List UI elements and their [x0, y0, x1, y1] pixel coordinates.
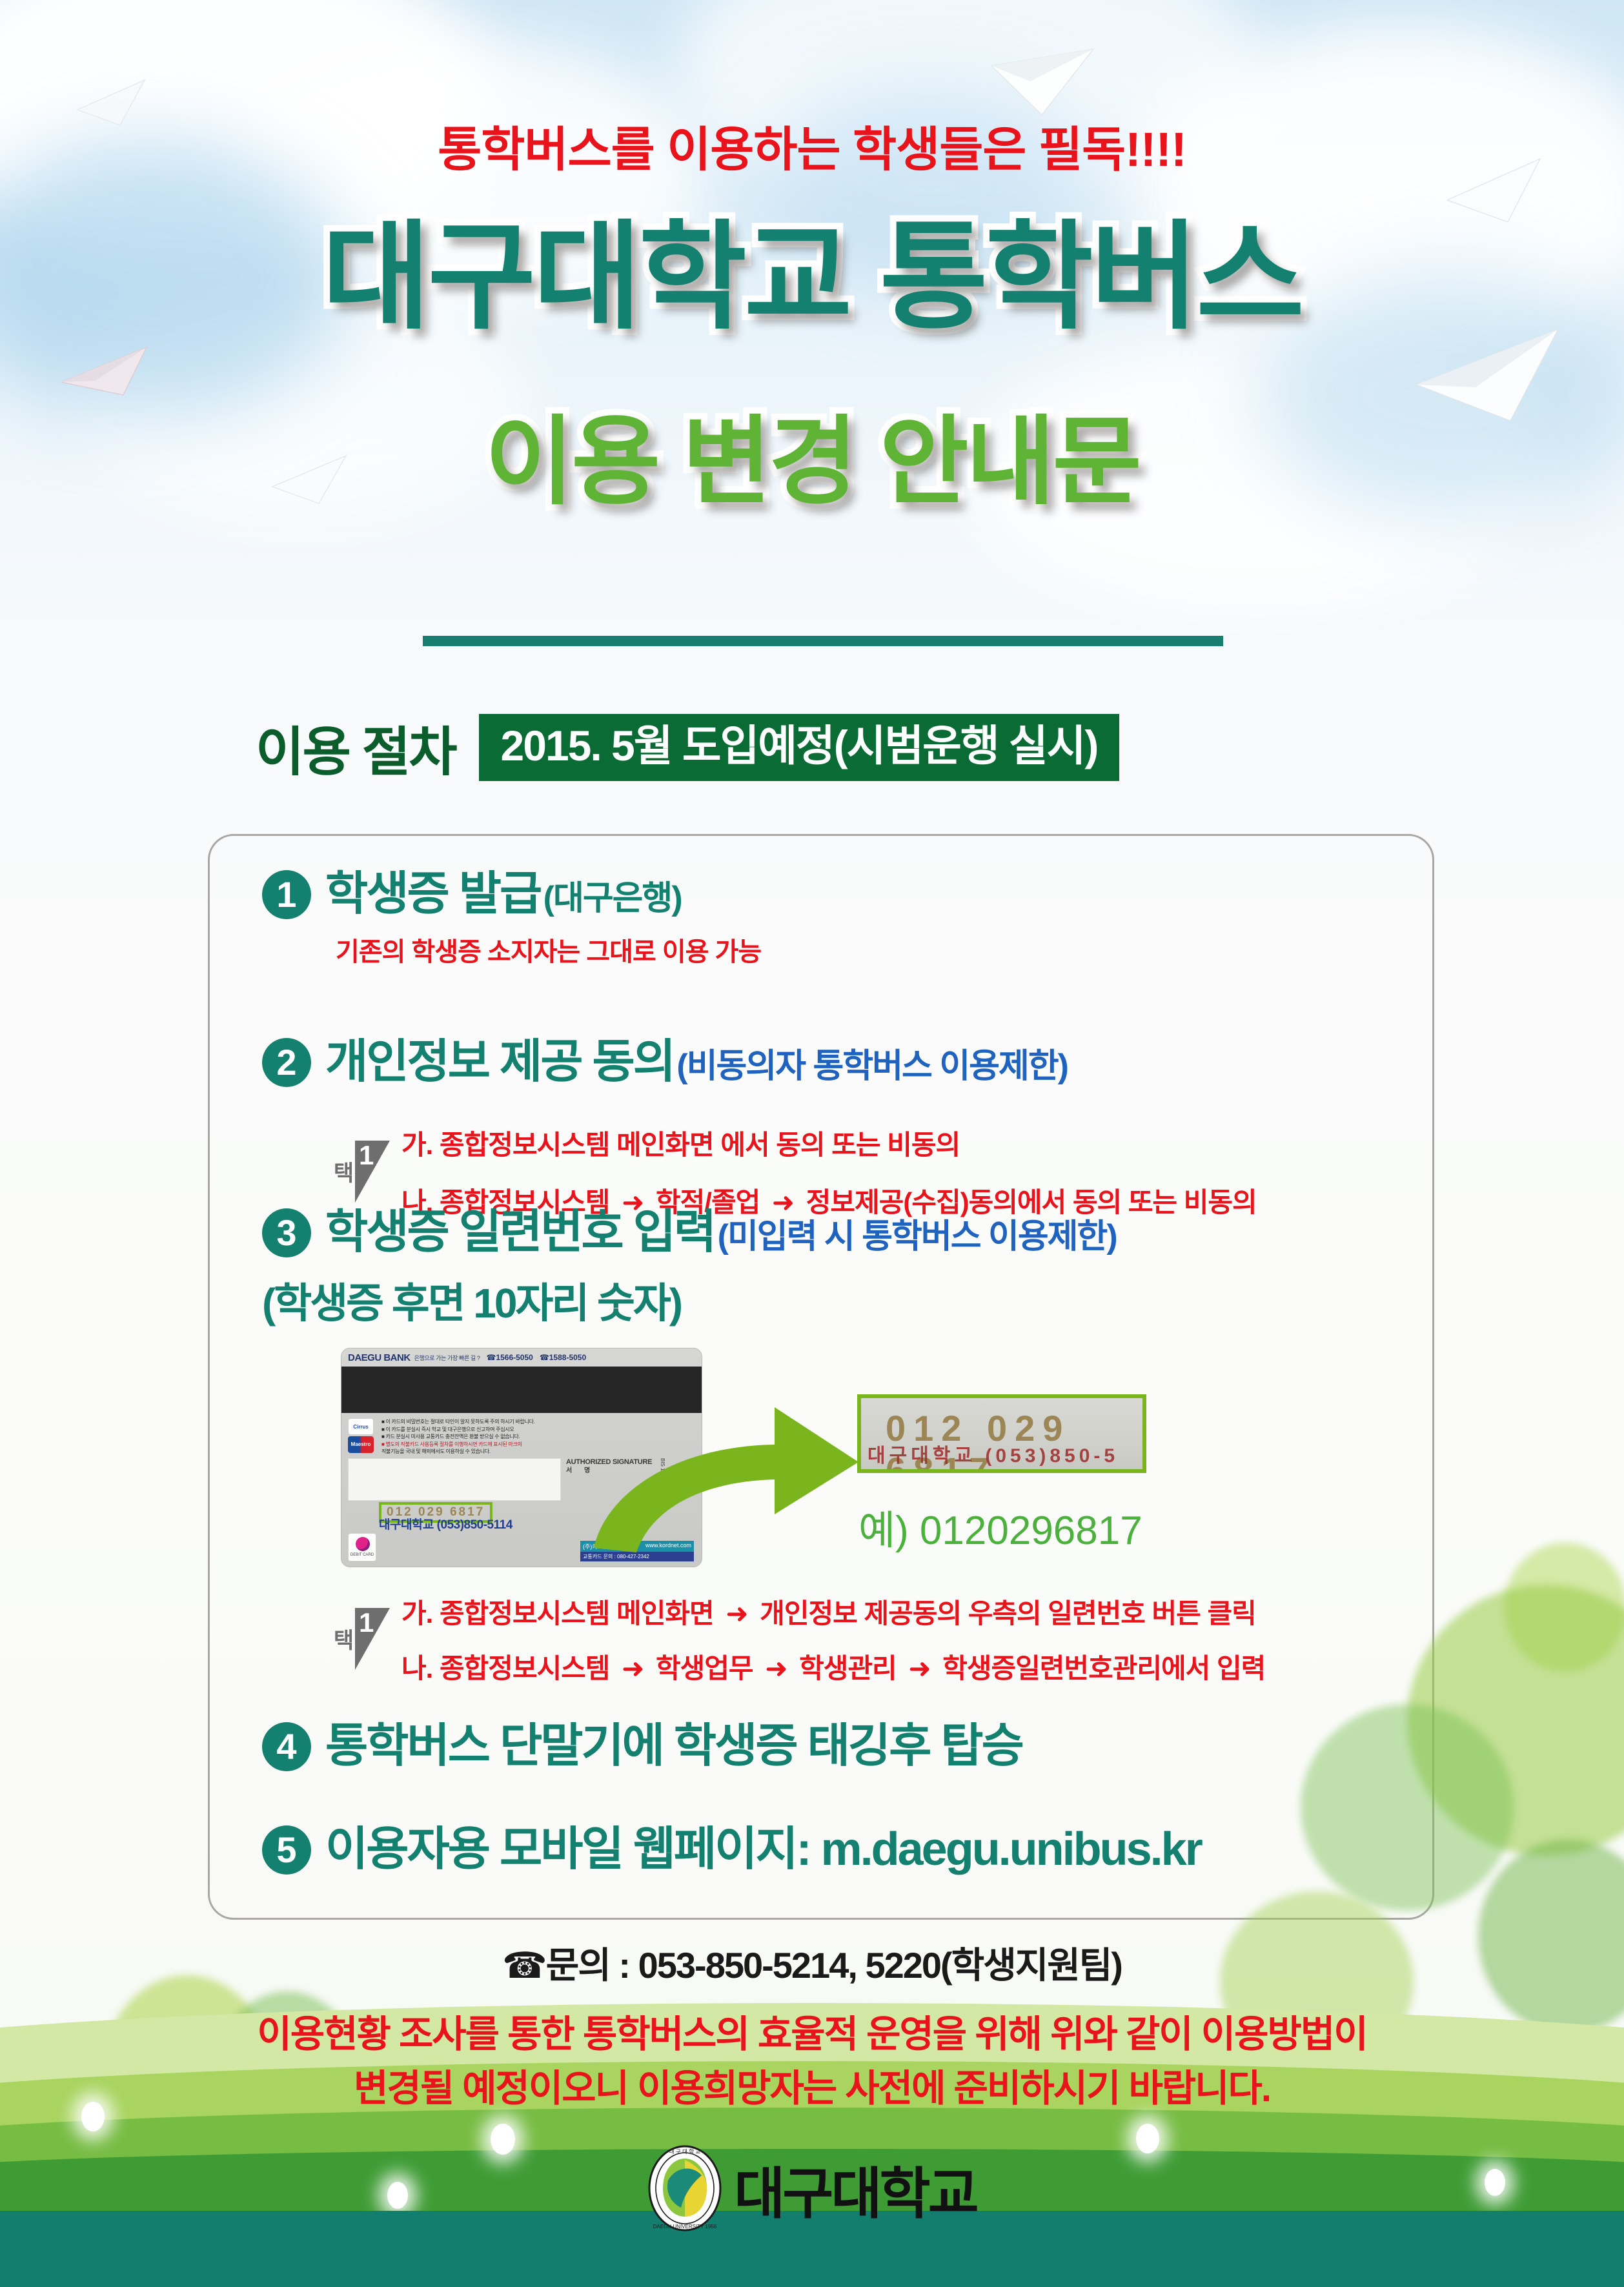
choice-part: 종합정보시스템 메인화면 — [440, 1598, 714, 1629]
paper-plane-icon — [988, 43, 1097, 120]
step-2-paren: (비동의자 통학버스 이용제한) — [676, 1048, 1068, 1085]
schedule-badge: 2015. 5월 도입예정(시범운행 실시) — [479, 714, 1120, 781]
arrow-icon: ➜ — [903, 1653, 935, 1683]
taek-label: 택 — [330, 1161, 352, 1182]
step-2-choices: 가. 종합정보시스템 메인화면 에서 동의 또는 비동의 나. 종합정보시스템 … — [401, 1123, 1257, 1220]
step-3: 3 학생증 일련번호 입력 (미입력 시 통학버스 이용제한) — [262, 1208, 1117, 1257]
choice-line: 가. 종합정보시스템 메인화면 에서 동의 또는 비동의 — [401, 1123, 1257, 1163]
signature-box — [348, 1458, 561, 1501]
step-1-note: 기존의 학생증 소지자는 그대로 이용 가능 — [336, 931, 761, 968]
svg-text:DAEGU UNIVERSITY 1956: DAEGU UNIVERSITY 1956 — [653, 2224, 717, 2230]
choice-line: 가. 종합정보시스템 메인화면 ➜ 개인정보 제공동의 우측의 일련번호 버튼 … — [401, 1592, 1265, 1631]
contact-line: ☎문의 : 053-850-5214, 5220(학생지원팀) — [0, 1936, 1624, 1989]
step-2-title: 개인정보 제공 동의 — [325, 1036, 674, 1088]
choose-one-marker-step3: 택 1 가. 종합정보시스템 메인화면 ➜ 개인정보 제공동의 우측의 일련번호… — [330, 1592, 1265, 1686]
arrow-icon: ➜ — [616, 1653, 649, 1683]
notice-line-1: 이용현황 조사를 통한 통학버스의 효율적 운영을 위해 위와 같이 이용방법이 — [0, 2007, 1624, 2062]
paper-plane-icon — [61, 342, 152, 400]
arrow-icon: ➜ — [720, 1598, 753, 1629]
choice-part: 종합정보시스템 — [440, 1653, 609, 1683]
serial-example-text: 예) 0120296817 — [858, 1498, 1142, 1556]
step-number-3: 3 — [262, 1208, 311, 1257]
taek-triangle-icon: 1 — [355, 1608, 390, 1670]
svg-text:대 구 대 학 교: 대 구 대 학 교 — [669, 2148, 701, 2155]
taek-number: 1 — [359, 1609, 374, 1636]
cirrus-logo-icon: Cirrus — [348, 1418, 374, 1435]
choice-part: 종합정보시스템 메인화면 에서 동의 또는 비동의 — [440, 1130, 960, 1160]
callout-arrow-icon — [581, 1368, 878, 1556]
serial-zoom-underline-text: 대구대학교 (053)850-5 — [868, 1439, 1119, 1468]
step-1-heading: 학생증 발급 (대구은행) — [325, 870, 761, 919]
step-4: 4 통학버스 단말기에 학생증 태깅후 탑승 — [262, 1722, 1022, 1771]
taek-label: 택 — [330, 1629, 352, 1649]
bank-tel-2: ☎1588-5050 — [540, 1353, 586, 1362]
bank-name: DAEGU BANK — [348, 1352, 411, 1363]
step-3-title: 학생증 일련번호 입력 — [325, 1206, 715, 1258]
step-3-choices: 가. 종합정보시스템 메인화면 ➜ 개인정보 제공동의 우측의 일련번호 버튼 … — [401, 1592, 1265, 1686]
poster-title-line1: 대구대학교 통학버스 — [0, 218, 1624, 336]
notice-line-2: 변경될 예정이오니 이용희망자는 사전에 준비하시기 바랍니다. — [0, 2062, 1624, 2116]
bank-slogan: 은행으로 가는 가장 빠른 길 ? — [414, 1354, 480, 1362]
step-number-4: 4 — [262, 1722, 311, 1771]
bank-tel-1: ☎1566-5050 — [486, 1353, 533, 1362]
step-5-title: 이용자용 모바일 웹페이지: m.daegu.unibus.kr — [325, 1825, 1201, 1875]
step-1-title: 학생증 발급 — [325, 868, 540, 920]
step-2: 2 개인정보 제공 동의 (비동의자 통학버스 이용제한) — [262, 1038, 1068, 1087]
section-header: 이용 절차 2015. 5월 도입예정(시범운행 실시) — [256, 709, 1119, 786]
paper-plane-icon — [1414, 323, 1562, 426]
step-number-2: 2 — [262, 1038, 311, 1087]
title-divider — [423, 636, 1223, 646]
poster-title-line2: 이용 변경 안내문 — [0, 413, 1624, 510]
section-title: 이용 절차 — [256, 709, 456, 786]
choice-prefix: 가. — [401, 1598, 432, 1629]
choice-prefix: 나. — [401, 1653, 432, 1683]
taek-triangle-icon: 1 — [355, 1141, 390, 1203]
step-3-subtitle: (학생증 후면 10자리 숫자) — [262, 1270, 681, 1330]
step-5: 5 이용자용 모바일 웹페이지: m.daegu.unibus.kr — [262, 1825, 1201, 1875]
choose-one-marker-step2: 택 1 가. 종합정보시스템 메인화면 에서 동의 또는 비동의 나. 종합정보… — [330, 1123, 1257, 1220]
step-3-paren: (미입력 시 통학버스 이용제한) — [718, 1218, 1117, 1255]
arrow-icon: ➜ — [760, 1653, 792, 1683]
choice-line: 나. 종합정보시스템 ➜ 학생업무 ➜ 학생관리 ➜ 학생증일련번호관리에서 입… — [401, 1647, 1265, 1686]
poster-root: 통학버스를 이용하는 학생들은 필독!!!! 대구대학교 통학버스 이용 변경 … — [0, 0, 1624, 2287]
step-number-5: 5 — [262, 1825, 311, 1875]
serial-zoom-callout: 012 029 6817 대구대학교 (053)850-5 — [857, 1394, 1146, 1473]
card-header: DAEGU BANK 은행으로 가는 가장 빠른 길 ? ☎1566-5050 … — [341, 1348, 702, 1367]
choice-part: 학생관리 — [799, 1653, 897, 1683]
choice-prefix: 가. — [401, 1130, 432, 1160]
university-contact-line: 대구대학교 (053)850-5114 — [379, 1515, 513, 1532]
university-name-text: 대구대학교 — [734, 2148, 977, 2229]
choice-part: 학생증일련번호관리에서 입력 — [942, 1653, 1265, 1683]
debit-card-logo-icon: DEBIT CARD — [348, 1533, 376, 1561]
step-number-1: 1 — [262, 870, 311, 919]
card-network-logos: Cirrus Maestro — [348, 1418, 376, 1456]
step-4-title: 통학버스 단말기에 학생증 태깅후 탑승 — [325, 1722, 1022, 1771]
step-3-heading: 학생증 일련번호 입력 (미입력 시 통학버스 이용제한) — [325, 1208, 1117, 1257]
headline-text: 통학버스를 이용하는 학생들은 필독!!!! — [0, 111, 1624, 180]
taek-number: 1 — [359, 1142, 374, 1169]
step-1-paren: (대구은행) — [543, 880, 682, 917]
university-logo-block: 대 구 대 학 교 DAEGU UNIVERSITY 1956 대구대학교 — [0, 2144, 1624, 2232]
university-emblem-icon: 대 구 대 학 교 DAEGU UNIVERSITY 1956 — [647, 2144, 722, 2232]
choice-part: 학생업무 — [656, 1653, 753, 1683]
watercolor-blob — [1301, 1704, 1514, 1911]
notice-text: 이용현황 조사를 통한 통학버스의 효율적 운영을 위해 위와 같이 이용방법이… — [0, 2007, 1624, 2116]
maestro-logo-icon: Maestro — [348, 1436, 374, 1453]
choice-part: 개인정보 제공동의 우측의 일련번호 버튼 클릭 — [760, 1598, 1256, 1629]
step-2-heading: 개인정보 제공 동의 (비동의자 통학버스 이용제한) — [325, 1038, 1068, 1087]
step-1: 1 학생증 발급 (대구은행) 기존의 학생증 소지자는 그대로 이용 가능 — [262, 870, 761, 968]
